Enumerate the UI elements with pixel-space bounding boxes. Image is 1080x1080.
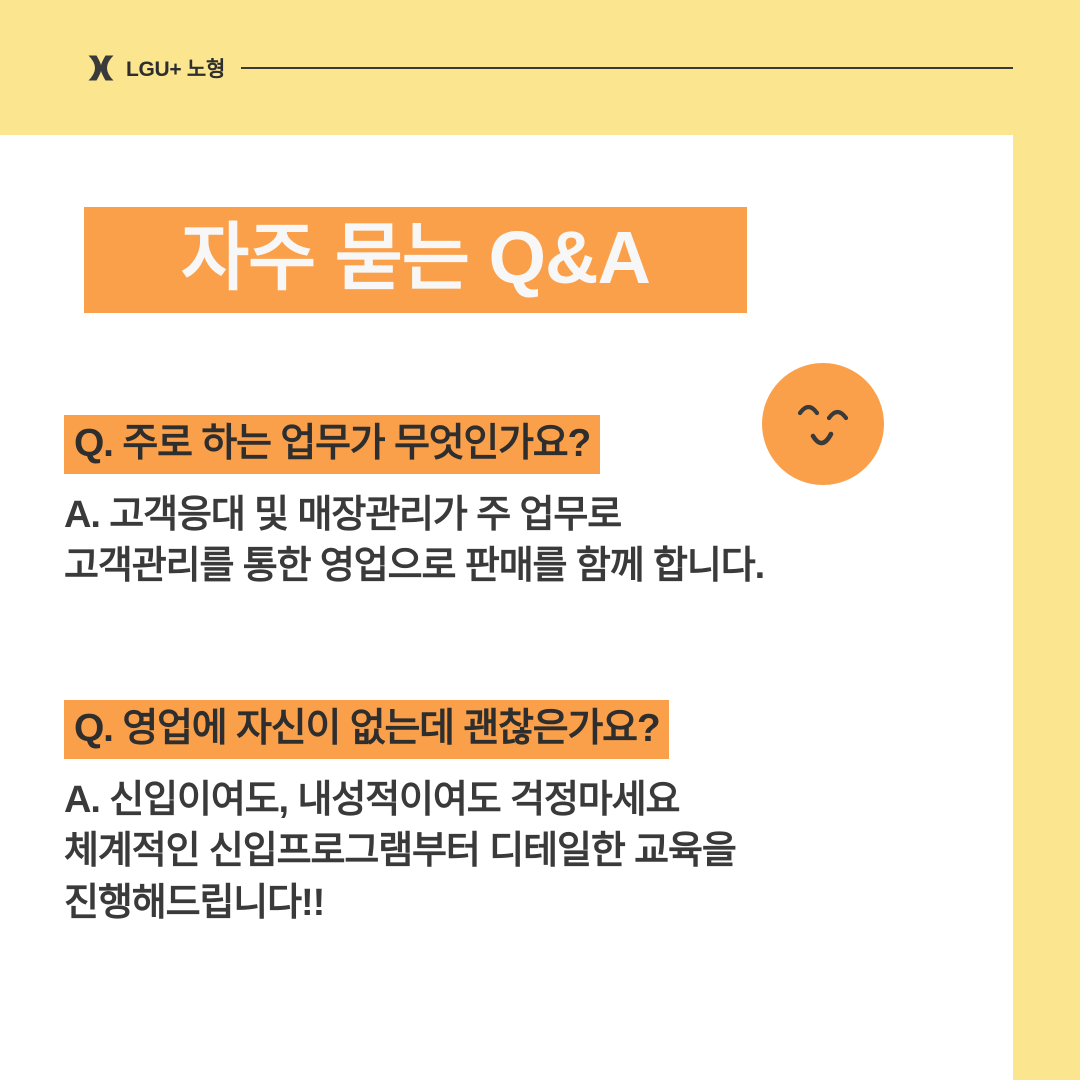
faq-answer: A. 신입이여도, 내성적이여도 걱정마세요 체계적인 신입프로그램부터 디테일… [64,775,736,929]
faq-card: LGU+ 노형 자주 묻는 Q&A Q. 주로 하는 업무가 무엇인가요? A.… [0,0,1080,1080]
faq-answer: A. 고객응대 및 매장관리가 주 업무로 고객관리를 통한 영업으로 판매를 … [64,490,764,593]
faq-item: Q. 주로 하는 업무가 무엇인가요? A. 고객응대 및 매장관리가 주 업무… [64,415,764,593]
faq-question: Q. 주로 하는 업무가 무엇인가요? [64,415,600,474]
brand-lockup: LGU+ 노형 [86,53,225,83]
faq-question: Q. 영업에 자신이 없는데 괜찮은가요? [64,700,669,759]
header-divider [241,67,1013,69]
page-header: LGU+ 노형 [0,0,1080,135]
faq-item: Q. 영업에 자신이 없는데 괜찮은가요? A. 신입이여도, 내성적이여도 걱… [64,700,736,929]
lgu-x-mark-icon [86,53,116,83]
page-title: 자주 묻는 Q&A [181,221,650,295]
frame-right-band [1013,135,1080,1080]
smiling-face-icon [762,363,884,485]
brand-name-label: LGU+ 노형 [126,53,225,83]
page-title-banner: 자주 묻는 Q&A [84,207,747,313]
